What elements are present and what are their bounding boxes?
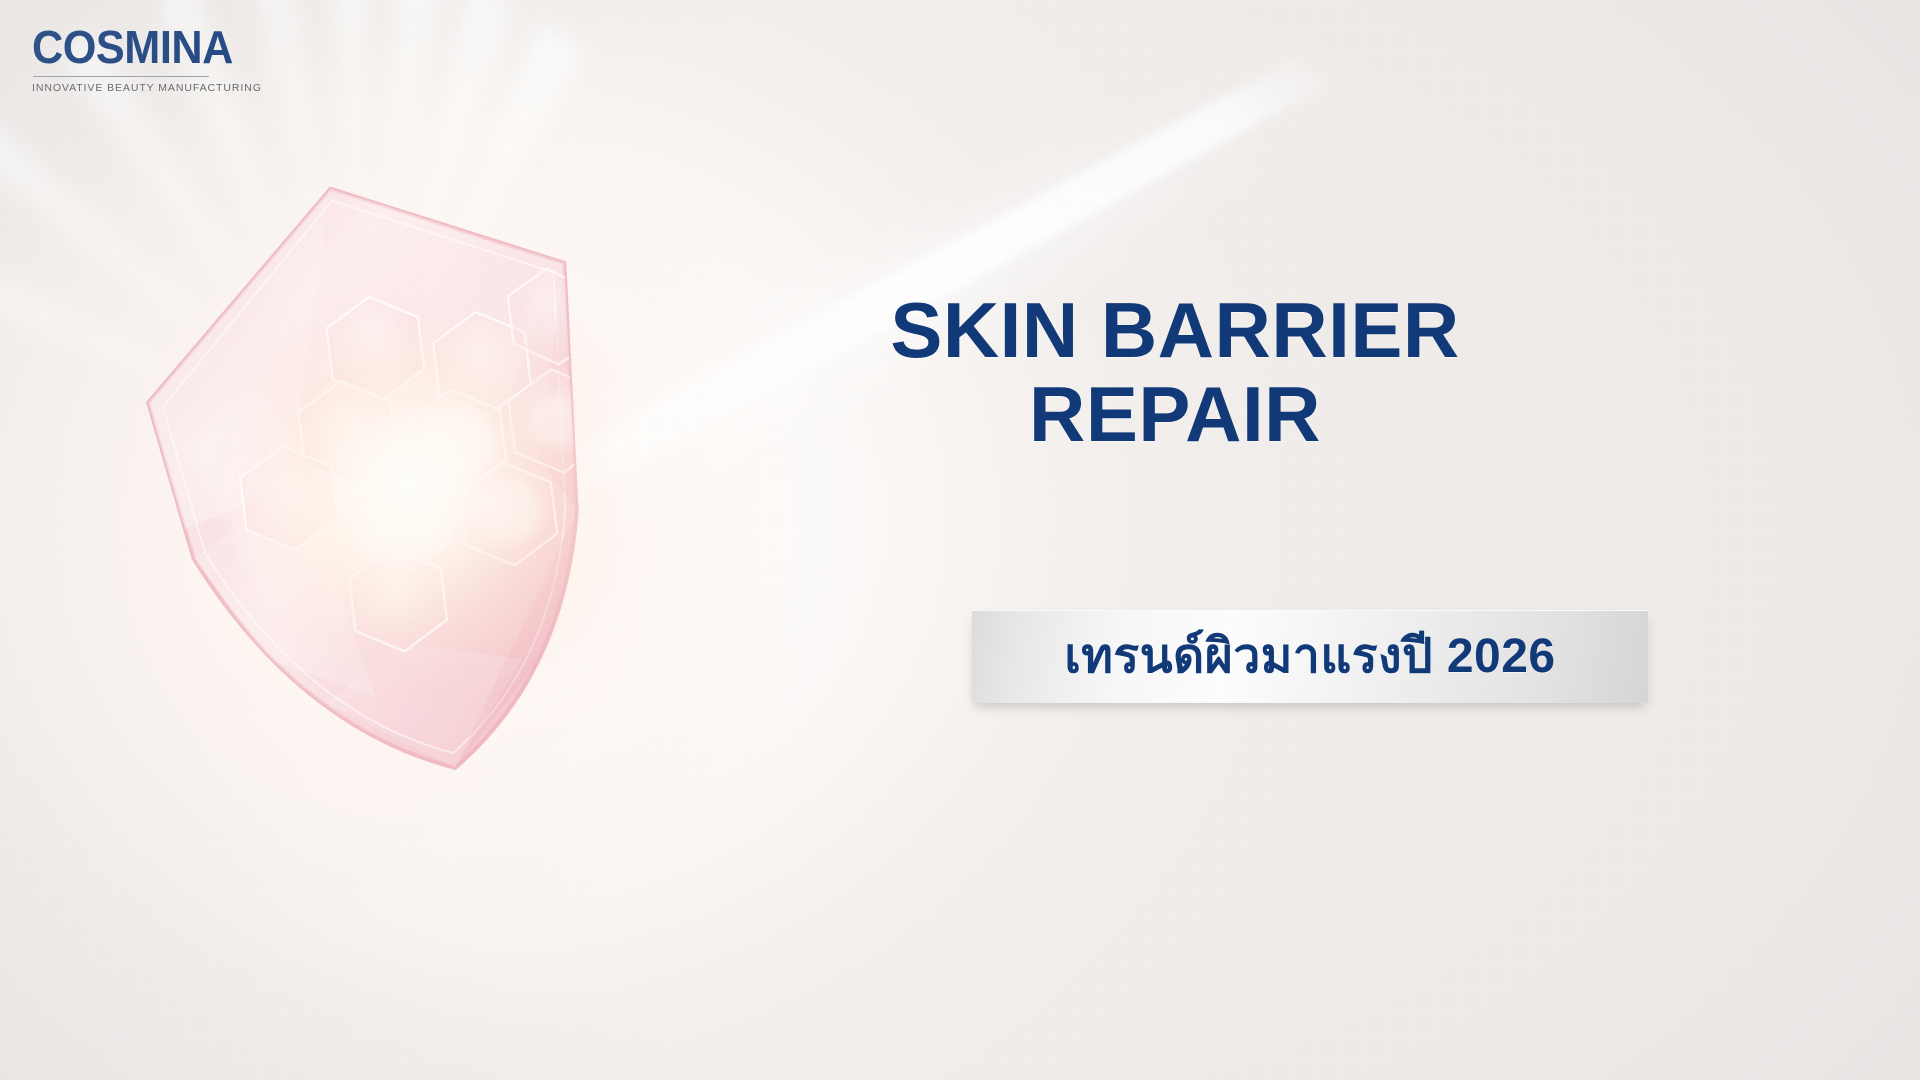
page-title: SKIN BARRIER REPAIR	[760, 292, 1590, 453]
poster-canvas: COSMINA INNOVATIVE BEAUTY MANUFACTURING …	[0, 0, 1920, 1080]
subtitle-banner: เทรนด์ผิวมาแรงปี 2026	[972, 610, 1648, 703]
headline-line-1: SKIN BARRIER	[760, 292, 1590, 368]
brand-logo[interactable]: COSMINA INNOVATIVE BEAUTY MANUFACTURING	[32, 24, 292, 94]
subtitle-text: เทรนด์ผิวมาแรงปี 2026	[1064, 633, 1555, 681]
background-gradient	[0, 0, 1920, 1080]
logo-divider	[33, 76, 209, 77]
headline-line-2: REPAIR	[760, 376, 1590, 452]
brand-tagline: INNOVATIVE BEAUTY MANUFACTURING	[32, 82, 292, 94]
brand-name: COSMINA	[32, 24, 276, 70]
